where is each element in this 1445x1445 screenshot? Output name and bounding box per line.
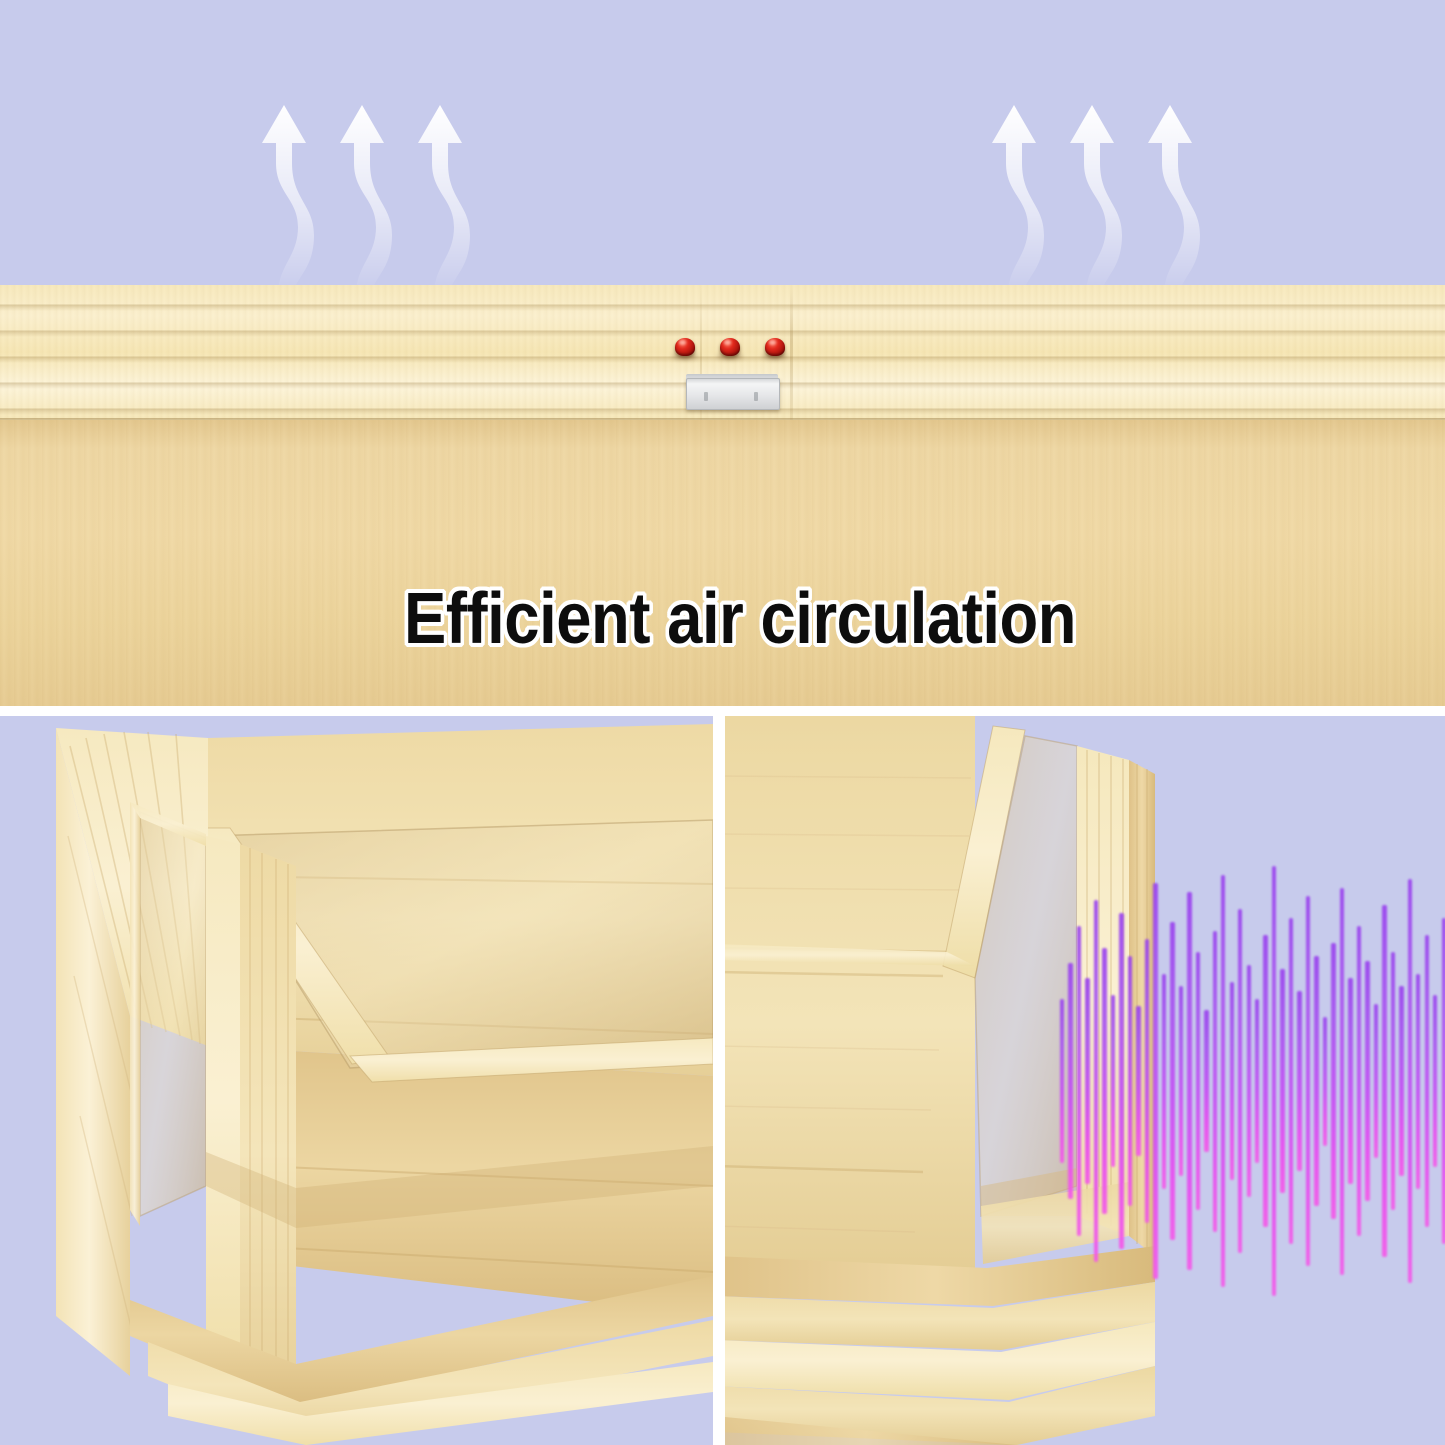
- sound-wave-bar: [1399, 986, 1403, 1175]
- sound-wave-bar: [1323, 1017, 1327, 1146]
- sound-wave-bar: [1204, 1010, 1208, 1152]
- sound-wave-bar: [1153, 883, 1157, 1279]
- sound-wave-bar: [1433, 995, 1437, 1167]
- sound-wave-bar: [1238, 909, 1242, 1253]
- rising-airflow-arrow-group-right: [988, 95, 1208, 295]
- sound-wave-bar: [1230, 982, 1234, 1180]
- acoustic-insulation-panel: Excellent acoustic insulation: [725, 716, 1445, 1445]
- infographic-root: Efficient air circulation: [0, 0, 1445, 1445]
- sound-wave-bar: [1119, 913, 1123, 1248]
- sound-wave-bar: [1060, 999, 1064, 1162]
- box-front-face: [0, 420, 1445, 706]
- red-indicator-light[interactable]: [720, 338, 740, 356]
- sound-wave-bar: [1382, 905, 1386, 1258]
- sound-wave-bar: [1357, 926, 1361, 1236]
- sound-wave-bar: [1408, 879, 1412, 1283]
- sound-wave-bar: [1416, 974, 1420, 1189]
- sound-wave-bar: [1068, 963, 1072, 1200]
- rising-airflow-arrow: [414, 95, 474, 295]
- sound-wave-bar: [1136, 1006, 1140, 1157]
- rising-airflow-arrow: [1066, 95, 1126, 295]
- bamboo-box-illustration: [0, 716, 713, 1445]
- air-circulation-panel: Efficient air circulation: [0, 0, 1445, 706]
- sound-wave-bar: [1128, 956, 1132, 1205]
- rising-airflow-arrow: [988, 95, 1048, 295]
- sound-wave-bar: [1213, 931, 1217, 1232]
- sound-wave-bar: [1306, 896, 1310, 1266]
- sound-wave-bar: [1145, 939, 1149, 1223]
- sound-wave-bar: [1247, 965, 1251, 1197]
- sound-wave-bar: [1221, 875, 1225, 1288]
- sound-wave-bar: [1187, 892, 1191, 1270]
- sound-wave-bar: [1077, 926, 1081, 1236]
- rising-airflow-arrow: [258, 95, 318, 295]
- sound-wave-bar: [1170, 922, 1174, 1240]
- sound-wave-bar: [1196, 952, 1200, 1210]
- panel-caption-air-circulation: Efficient air circulation: [404, 578, 1076, 660]
- sound-wave-bar: [1102, 948, 1106, 1215]
- sound-wave-bar: [1111, 995, 1115, 1167]
- heat-retention-panel: Exceptional heat retention: [0, 716, 713, 1445]
- sound-wave-bar: [1297, 991, 1301, 1172]
- sound-wave-bar: [1340, 888, 1344, 1275]
- red-indicator-light[interactable]: [675, 338, 695, 356]
- sound-wave-bar: [1365, 961, 1369, 1202]
- sound-wave-bar: [1289, 918, 1293, 1245]
- sound-wave-bar: [1374, 1004, 1378, 1159]
- sound-wave-bar: [1391, 952, 1395, 1210]
- metal-hinge-bracket: [686, 378, 780, 410]
- sound-wave-bar: [1255, 999, 1259, 1162]
- sound-wave-bar: [1442, 918, 1445, 1245]
- sound-wave-bar: [1425, 935, 1429, 1227]
- sound-wave-bar: [1331, 943, 1335, 1218]
- rising-airflow-arrow-group-left: [258, 95, 478, 295]
- sound-wave-bar: [1085, 978, 1089, 1184]
- sound-wave-bars: [1060, 866, 1445, 1296]
- sound-wave-bar: [1272, 866, 1276, 1296]
- lid-seam-line: [790, 285, 793, 425]
- panel-divider-vertical: [713, 706, 725, 1445]
- rising-airflow-arrow: [1144, 95, 1204, 295]
- rising-airflow-arrow: [336, 95, 396, 295]
- sound-wave-bar: [1263, 935, 1267, 1227]
- sound-wave-bar: [1179, 986, 1183, 1175]
- sound-wave-bar: [1162, 974, 1166, 1189]
- sound-wave-bar: [1348, 978, 1352, 1184]
- sound-wave-bar: [1314, 956, 1318, 1205]
- red-indicator-light[interactable]: [765, 338, 785, 356]
- sound-wave-bar: [1280, 969, 1284, 1193]
- sound-wave-bar: [1094, 900, 1098, 1261]
